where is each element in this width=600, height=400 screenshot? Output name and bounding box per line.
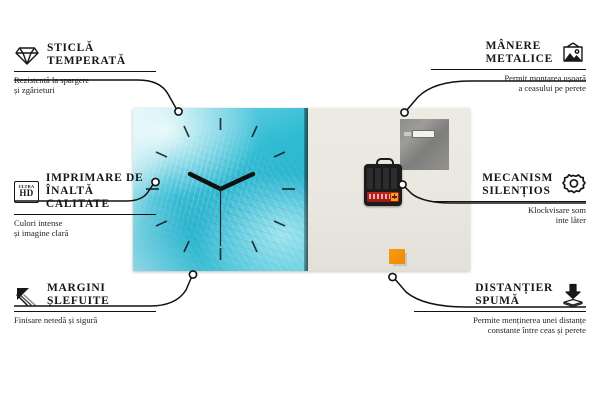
feature-edges-title-row: MARGINI ȘLEFUITE — [14, 282, 156, 308]
feature-mechanism-title-row: MECANISM SILENȚIOS — [431, 172, 586, 198]
feature-foam-desc: Permite menținerea unei distanțe constan… — [414, 315, 586, 336]
feature-hooks: MÂNERE METALICE Permit montarea ușoară a… — [431, 40, 586, 94]
feature-print-rule — [14, 214, 156, 215]
feature-hooks-title: MÂNERE METALICE — [486, 40, 553, 66]
ultra-hd-icon-main: HD — [19, 189, 33, 198]
feature-edges-title: MARGINI ȘLEFUITE — [47, 282, 109, 308]
feature-glass-title-row: STICLĂ TEMPERATĂ — [14, 42, 156, 68]
feature-mechanism-title: MECANISM SILENȚIOS — [482, 172, 553, 198]
anchor-dot-mechanism — [399, 181, 406, 188]
feature-foam: DISTANȚIER SPUMĂ Permite menținerea unei… — [414, 282, 586, 336]
polished-edges-icon — [14, 285, 40, 306]
feature-print-desc: Culori intense și imagine clară — [14, 218, 156, 239]
anchor-dot-foam — [389, 273, 396, 280]
feature-print-title: IMPRIMARE DE ÎNALTĂ CALITATE — [46, 172, 156, 211]
hanging-frame-icon — [560, 42, 586, 64]
feature-glass-title: STICLĂ TEMPERATĂ — [47, 42, 126, 68]
feature-mechanism-rule — [431, 201, 586, 202]
ultra-hd-icon: ultra HD — [14, 181, 39, 203]
anchor-dot-glass — [175, 108, 182, 115]
anchor-dot-hooks — [401, 109, 408, 116]
feature-edges: MARGINI ȘLEFUITE Finisare netedă și sigu… — [14, 282, 156, 325]
feature-hooks-rule — [431, 69, 586, 70]
feature-foam-rule — [414, 311, 586, 312]
infographic-canvas: STICLĂ TEMPERATĂ Rezistentă la spargere … — [0, 0, 600, 400]
feature-foam-title-row: DISTANȚIER SPUMĂ — [414, 282, 586, 308]
feature-hooks-desc: Permit montarea ușoară a ceasului pe per… — [431, 73, 586, 94]
feature-glass: STICLĂ TEMPERATĂ Rezistentă la spargere … — [14, 42, 156, 96]
feature-foam-title: DISTANȚIER SPUMĂ — [475, 282, 553, 308]
feature-mechanism: MECANISM SILENȚIOS Klockvisare som inte … — [431, 172, 586, 226]
feature-print: ultra HD IMPRIMARE DE ÎNALTĂ CALITATE Cu… — [14, 172, 156, 239]
feature-mechanism-desc: Klockvisare som inte låter — [431, 205, 586, 226]
spacer-arrow-icon — [560, 283, 586, 307]
feature-print-title-row: ultra HD IMPRIMARE DE ÎNALTĂ CALITATE — [14, 172, 156, 211]
diamond-icon — [14, 45, 40, 66]
gear-icon — [560, 173, 586, 197]
feature-edges-desc: Finisare netedă și sigură — [14, 315, 156, 325]
feature-glass-rule — [14, 71, 156, 72]
feature-glass-desc: Rezistentă la spargere și zgârieturi — [14, 75, 156, 96]
feature-edges-rule — [14, 311, 156, 312]
feature-hooks-title-row: MÂNERE METALICE — [431, 40, 586, 66]
anchor-dot-edges — [189, 271, 196, 278]
